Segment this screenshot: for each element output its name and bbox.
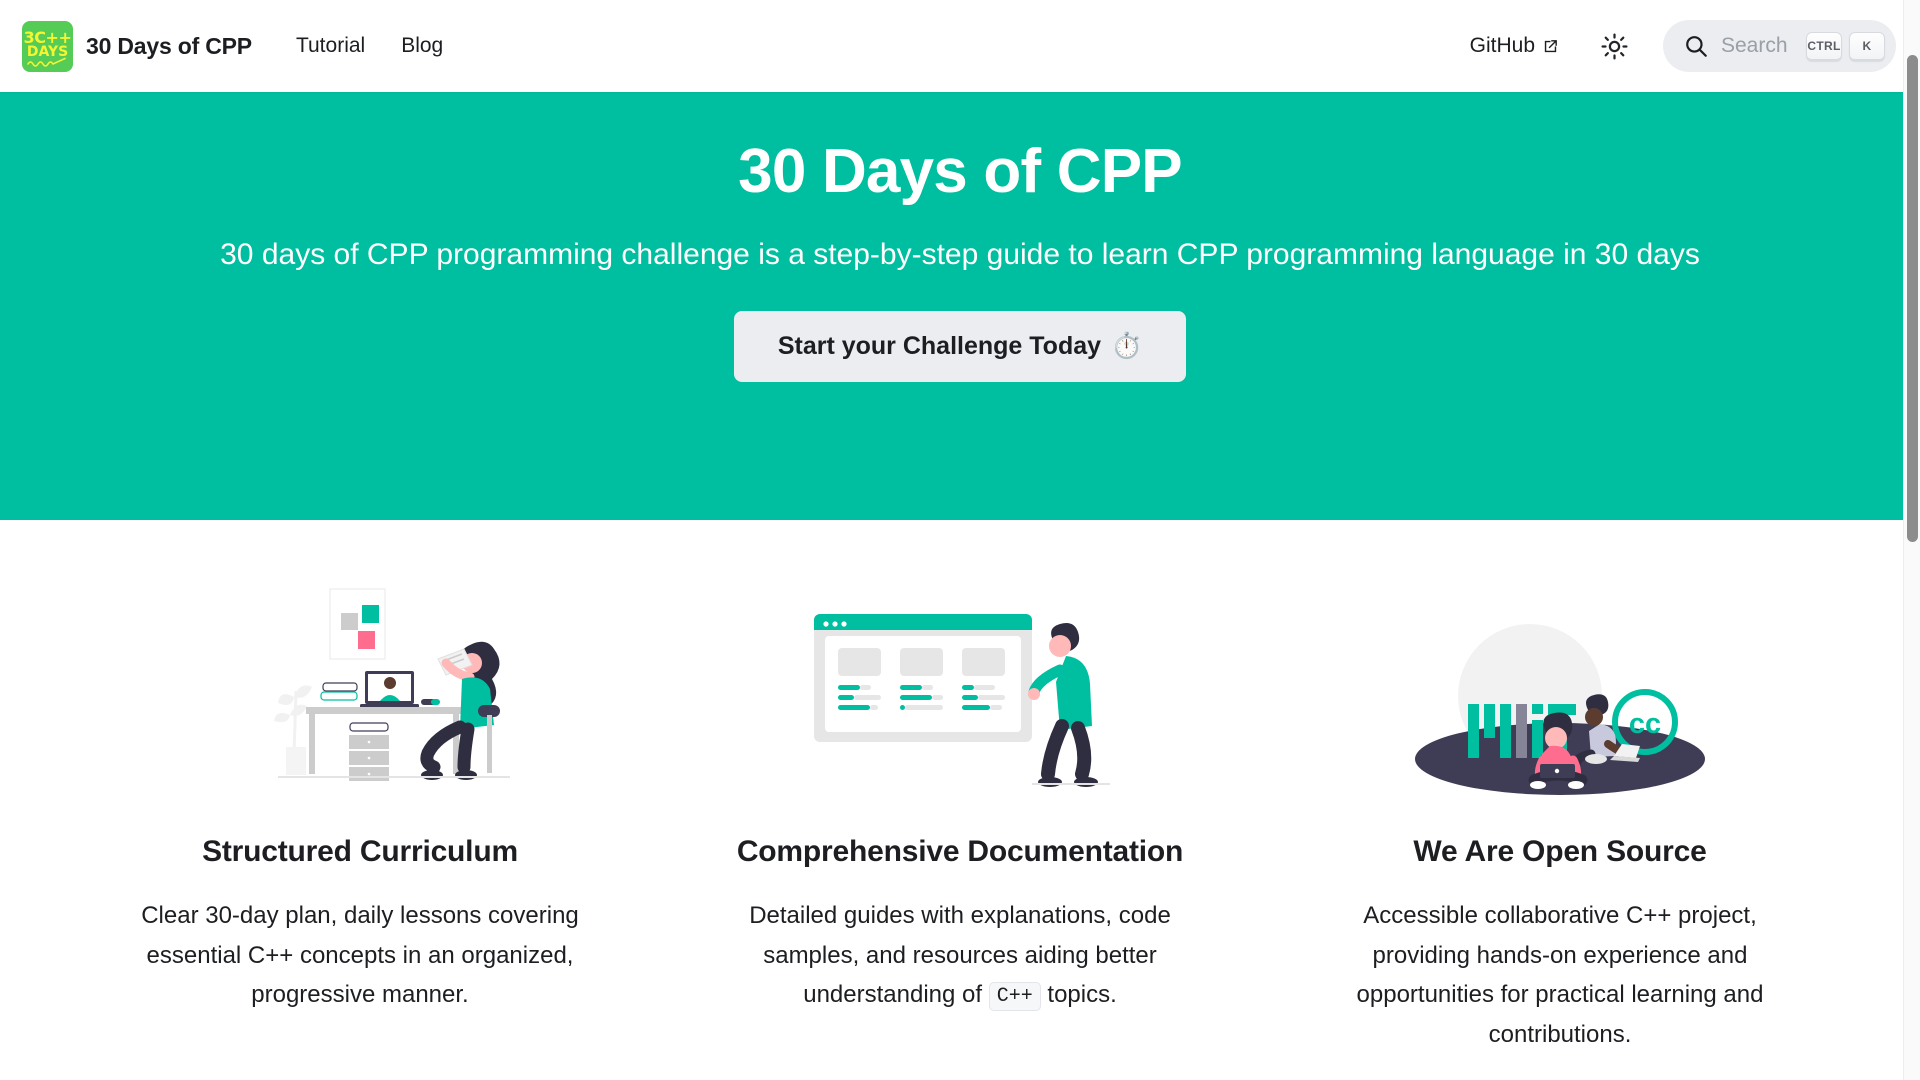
github-link[interactable]: GitHub	[1460, 34, 1569, 58]
brand-title: 30 Days of CPP	[86, 33, 252, 60]
stopwatch-icon: ⏱️	[1111, 332, 1142, 361]
navbar-left: 3C++ DAYS 30 Days of CPP Tutorial Blog	[22, 21, 461, 72]
feature-title: Comprehensive Documentation	[690, 835, 1230, 869]
feature-card: Structured Curriculum Clear 30-day plan,…	[60, 574, 660, 1054]
search-input[interactable]: Search CTRL K	[1663, 20, 1896, 72]
navbar-right: GitHub	[1460, 20, 1896, 72]
key-badge-ctrl: CTRL	[1806, 32, 1842, 61]
key-badge-k: K	[1849, 32, 1885, 61]
feature-body: Accessible collaborative C++ project, pr…	[1325, 896, 1795, 1054]
open-source-mit-cc-illustration: cc	[1290, 574, 1830, 799]
inline-code-cpp: C++	[989, 982, 1041, 1011]
hero-banner: 30 Days of CPP 30 days of CPP programmin…	[0, 92, 1920, 520]
brand-home-link[interactable]: 3C++ DAYS 30 Days of CPP	[22, 21, 252, 72]
person-studying-at-desk-illustration	[90, 574, 630, 799]
feature-body: Clear 30-day plan, daily lessons coverin…	[125, 896, 595, 1015]
feature-title: Structured Curriculum	[90, 835, 630, 869]
feature-body: Detailed guides with explanations, code …	[725, 896, 1195, 1015]
start-challenge-label: Start your Challenge Today	[778, 332, 1101, 361]
browser-window-with-person-illustration	[690, 574, 1230, 799]
search-placeholder: Search	[1721, 34, 1794, 58]
hero-title: 30 Days of CPP	[24, 138, 1896, 206]
nav-item-tutorial[interactable]: Tutorial	[278, 34, 383, 58]
feature-card: Comprehensive Documentation Detailed gui…	[660, 574, 1260, 1054]
feature-card: cc	[1260, 574, 1860, 1054]
feature-title: We Are Open Source	[1290, 835, 1830, 869]
hero-subtitle: 30 days of CPP programming challenge is …	[140, 232, 1780, 277]
feature-body-text-after: topics.	[1041, 981, 1117, 1008]
external-link-icon	[1542, 38, 1559, 55]
scrollbar-thumb[interactable]	[1907, 55, 1918, 542]
search-shortcut-keys: CTRL K	[1806, 32, 1885, 61]
start-challenge-button[interactable]: Start your Challenge Today ⏱️	[734, 311, 1186, 382]
primary-nav: Tutorial Blog	[278, 34, 461, 58]
feature-body-text: Clear 30-day plan, daily lessons coverin…	[141, 902, 579, 1008]
feature-body-text: Accessible collaborative C++ project, pr…	[1357, 902, 1764, 1048]
site-logo-icon: 3C++ DAYS	[22, 21, 73, 72]
page-scrollbar[interactable]	[1903, 0, 1920, 1080]
github-link-label: GitHub	[1470, 34, 1535, 58]
features-section: Structured Curriculum Clear 30-day plan,…	[60, 520, 1860, 1054]
search-icon	[1683, 33, 1709, 59]
theme-toggle-button[interactable]	[1591, 23, 1637, 69]
svg-text:cc: cc	[1629, 708, 1661, 740]
logo-squiggle-icon	[27, 57, 69, 68]
navbar: 3C++ DAYS 30 Days of CPP Tutorial Blog G…	[0, 0, 1920, 92]
sun-icon	[1601, 33, 1628, 60]
nav-item-blog[interactable]: Blog	[383, 34, 461, 58]
